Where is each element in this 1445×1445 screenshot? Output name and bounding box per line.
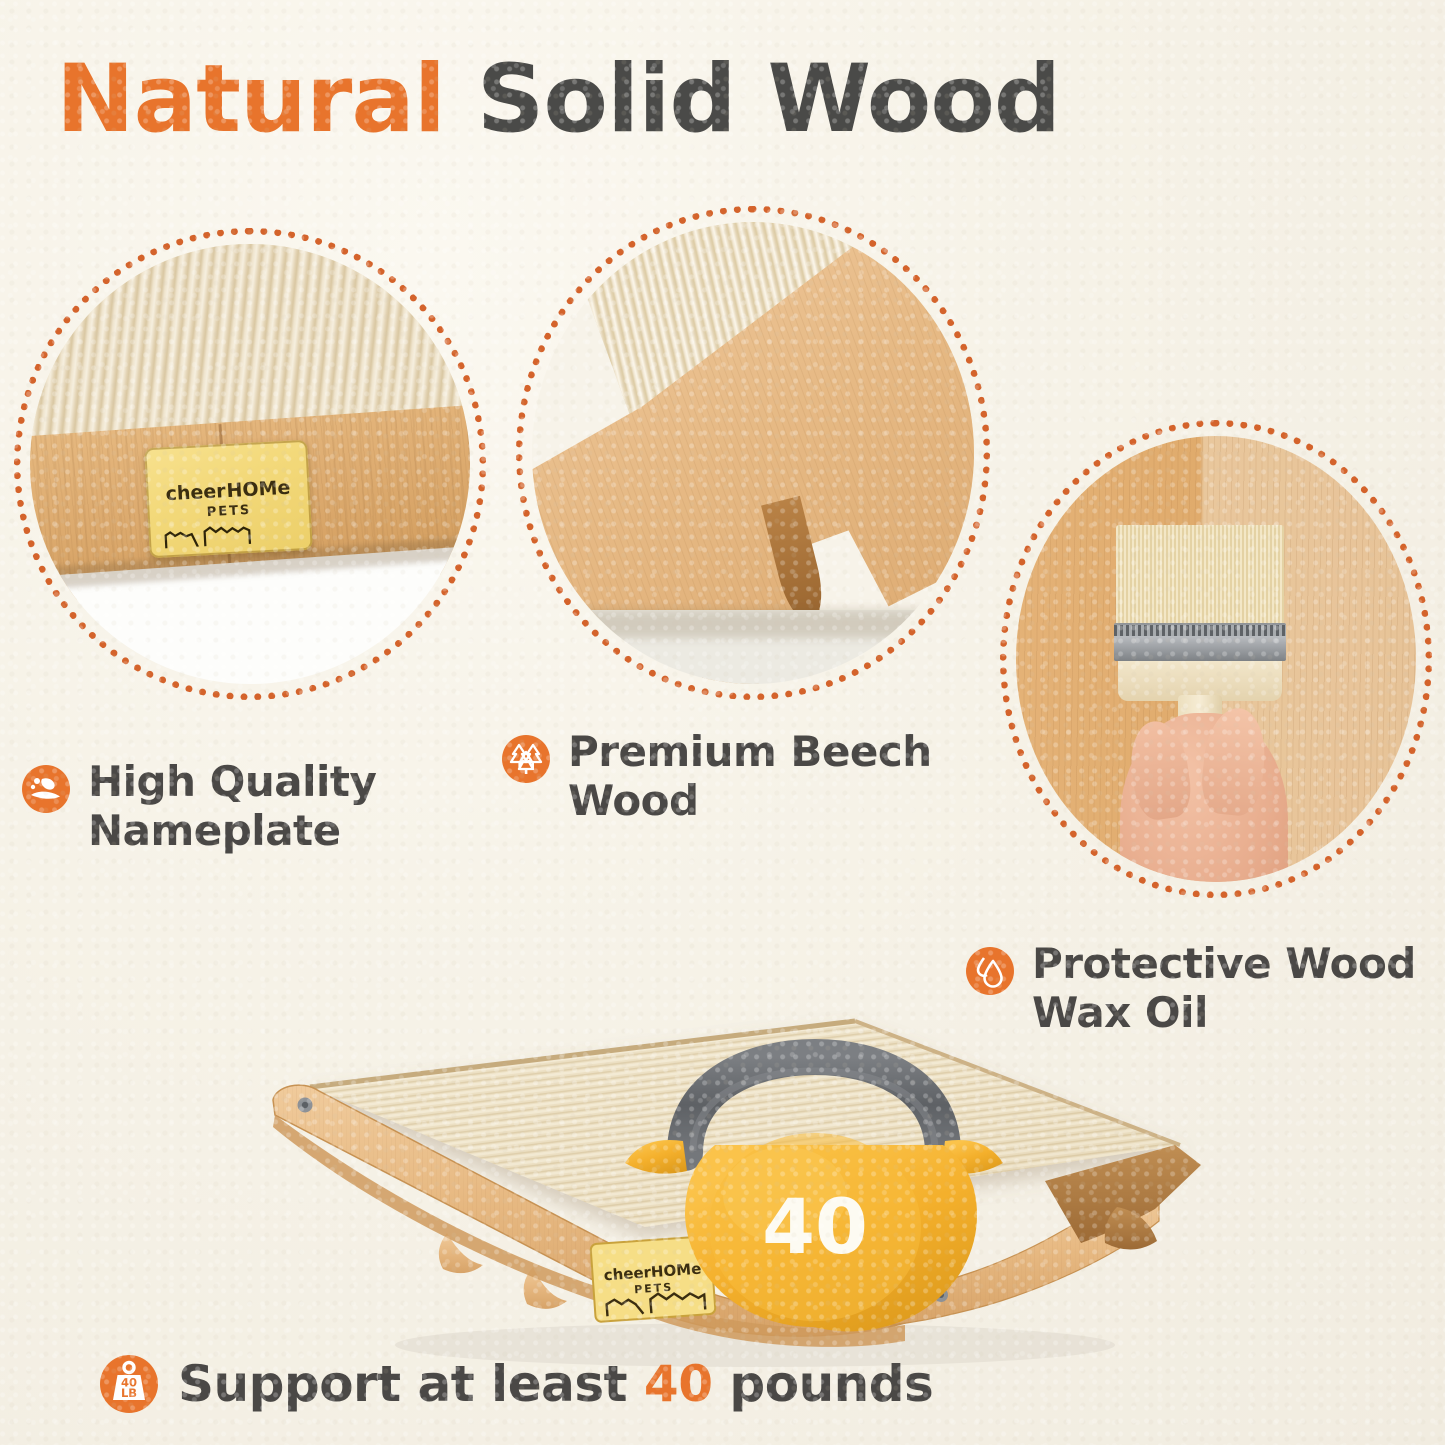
feature-nameplate-line1: High Quality xyxy=(88,757,376,806)
photo-nameplate: cheerHOMe PETS xyxy=(14,228,486,700)
dotted-ring-nameplate xyxy=(14,228,486,700)
left-foot xyxy=(353,1295,417,1345)
caption-number: 40 xyxy=(644,1355,713,1413)
title-rest-words: Solid Wood xyxy=(477,45,1061,154)
feature-nameplate-label: High Quality Nameplate xyxy=(88,758,376,855)
feature-nameplate-line2: Nameplate xyxy=(88,806,341,855)
weight-tag-icon: 40 LB xyxy=(100,1355,158,1413)
feature-beech: Premium Beech Wood xyxy=(502,728,932,825)
nameplate-badge-icon xyxy=(22,765,70,813)
svg-text:PETS: PETS xyxy=(634,1281,674,1297)
caption-text-before: Support at least xyxy=(178,1355,644,1413)
dotted-ring-waxoil xyxy=(1000,420,1432,898)
weight-tag-unit: LB xyxy=(121,1386,137,1400)
page-title: Natural Solid Wood xyxy=(56,52,1060,148)
photo-beech xyxy=(516,206,990,700)
feature-nameplate: High Quality Nameplate xyxy=(22,758,376,855)
product-photo: cheerHOMe PETS 40 xyxy=(215,995,1255,1375)
kettlebell-weight-value: 40 xyxy=(762,1182,868,1271)
feature-waxoil-line2: Wax Oil xyxy=(1032,988,1208,1037)
support-caption: 40 LB Support at least 40 pounds xyxy=(100,1355,933,1413)
pine-trees-icon xyxy=(502,735,550,783)
product-illustration: cheerHOMe PETS 40 xyxy=(215,995,1255,1375)
title-accent-word: Natural xyxy=(56,45,445,154)
feature-waxoil-label: Protective Wood Wax Oil xyxy=(1032,940,1416,1037)
feature-beech-line1: Premium Beech xyxy=(568,727,932,776)
support-caption-text: Support at least 40 pounds xyxy=(178,1355,933,1413)
feature-beech-label: Premium Beech Wood xyxy=(568,728,932,825)
oil-droplet-icon xyxy=(966,947,1014,995)
caption-text-after: pounds xyxy=(713,1355,934,1413)
feature-waxoil: Protective Wood Wax Oil xyxy=(966,940,1416,1037)
photo-waxoil xyxy=(1000,420,1432,898)
feature-waxoil-line1: Protective Wood xyxy=(1032,939,1416,988)
feature-beech-line2: Wood xyxy=(568,776,699,825)
dotted-ring-beech xyxy=(516,206,990,700)
